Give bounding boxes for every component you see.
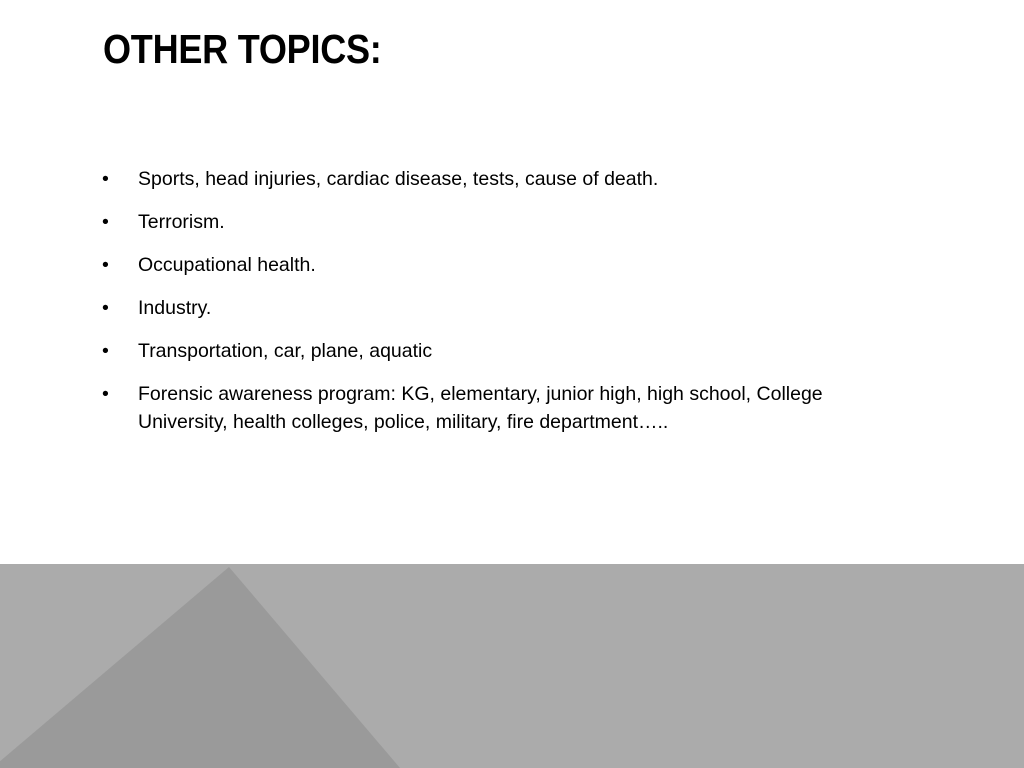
bullet-point-icon: • bbox=[102, 251, 116, 279]
bullet-point-icon: • bbox=[102, 380, 116, 408]
slide-canvas: OTHER TOPICS: • Sports, head injuries, c… bbox=[0, 0, 1024, 768]
footer-triangle-shape bbox=[0, 564, 1024, 768]
list-item-text: Sports, head injuries, cardiac disease, … bbox=[138, 165, 894, 193]
bullet-point-icon: • bbox=[102, 294, 116, 322]
list-item: • Transportation, car, plane, aquatic bbox=[100, 337, 900, 365]
list-item: • Occupational health. bbox=[100, 251, 900, 279]
list-item: • Forensic awareness program: KG, elemen… bbox=[100, 380, 900, 436]
list-item-text: Terrorism. bbox=[138, 208, 894, 236]
bullet-point-icon: • bbox=[102, 337, 116, 365]
list-item-text: Occupational health. bbox=[138, 251, 894, 279]
list-item: • Sports, head injuries, cardiac disease… bbox=[100, 165, 900, 193]
list-item-text: Industry. bbox=[138, 294, 894, 322]
bullet-point-icon: • bbox=[102, 165, 116, 193]
list-item: • Terrorism. bbox=[100, 208, 900, 236]
bullet-point-icon: • bbox=[102, 208, 116, 236]
list-item: • Industry. bbox=[100, 294, 900, 322]
bullet-list: • Sports, head injuries, cardiac disease… bbox=[100, 165, 900, 436]
page-title: OTHER TOPICS: bbox=[103, 26, 825, 72]
list-item-text: Forensic awareness program: KG, elementa… bbox=[138, 380, 894, 436]
footer-decoration-band bbox=[0, 564, 1024, 768]
list-item-text: Transportation, car, plane, aquatic bbox=[138, 337, 894, 365]
